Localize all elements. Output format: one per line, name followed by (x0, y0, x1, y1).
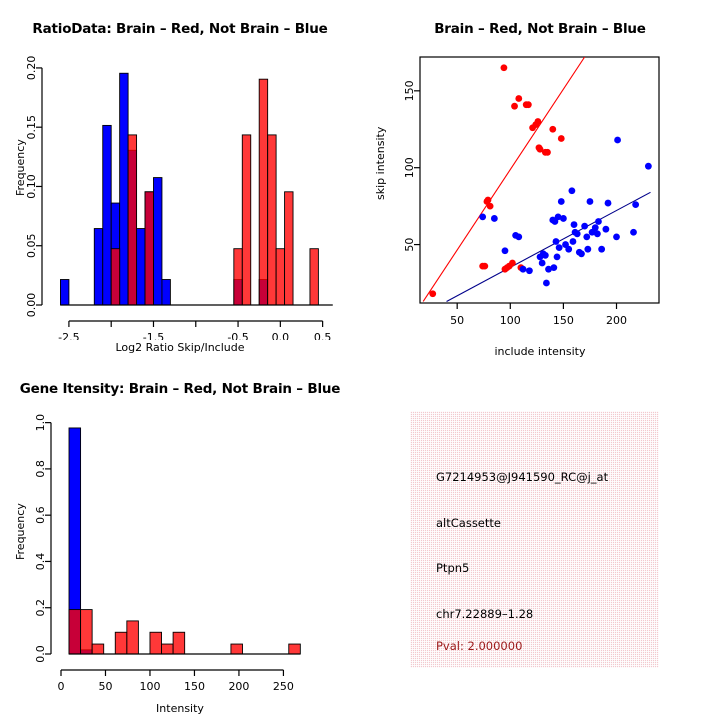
scatter-point (487, 203, 494, 210)
scatter-point (515, 233, 522, 240)
scatter-point (614, 137, 621, 144)
gene-hist-plot: 0.00.20.40.60.81.0050100150200250 (0, 360, 360, 700)
scatter-point (587, 198, 594, 205)
probe-info-panel: G7214953@J941590_RC@j_at altCassette Ptp… (410, 411, 659, 668)
info-event-type: altCassette (436, 516, 501, 530)
gene-y-tick-text: 0.2 (34, 599, 47, 617)
gene-hist-bar (69, 610, 81, 654)
gene-hist-bar (92, 644, 104, 654)
scatter-point (549, 126, 556, 133)
ratio-hist-bar (103, 125, 111, 305)
gene-x-tick-label: 250 (273, 680, 294, 693)
scatter-point (542, 252, 549, 259)
scatter-point (543, 280, 550, 287)
gene-y-tick-label: 0.6 (34, 506, 47, 524)
gene-y-tick-text: 0.6 (34, 506, 47, 524)
ratio-x-tick-label: -2.5 (58, 331, 79, 340)
scatter-point (605, 200, 612, 207)
gene-y-tick-label: 1.0 (34, 414, 47, 432)
gene-y-tick-text: 0.0 (34, 645, 47, 663)
scatter-point (525, 101, 532, 108)
info-probe-id: G7214953@J941590_RC@j_at (436, 470, 608, 484)
scatter-point (584, 246, 591, 253)
ratio-hist-bar (162, 280, 170, 305)
ratio-hist-bar (120, 73, 128, 305)
scatter-y-tick-label: 150 (403, 80, 416, 101)
scatter-point (558, 135, 565, 142)
scatter-x-tick-label: 100 (500, 314, 521, 327)
ratio-hist-bar (137, 229, 145, 305)
gene-hist-bar (173, 632, 185, 654)
gene-hist-bar (231, 644, 243, 654)
ratio-hist-bar (285, 192, 293, 305)
ratio-y-tick-text: 0.20 (25, 56, 38, 81)
scatter-plot: 5010015020050100150 (360, 0, 720, 345)
ratio-hist-bar (128, 135, 136, 305)
ratio-hist-bar (145, 192, 153, 305)
scatter-xlabel: include intensity (360, 345, 720, 358)
info-gene-symbol: Ptpn5 (436, 561, 469, 575)
ratio-hist-bar (234, 249, 242, 305)
scatter-fit-line (423, 57, 584, 301)
scatter-point (556, 244, 563, 251)
ratio-y-tick-text: 0.05 (25, 233, 38, 257)
gene-hist-bar (162, 644, 174, 654)
gene-x-tick-label: 200 (228, 680, 249, 693)
scatter-x-tick-label: 200 (606, 314, 627, 327)
scatter-point (491, 215, 498, 222)
scatter-point (558, 198, 565, 205)
scatter-point (568, 187, 575, 194)
ratio-x-tick-label: 0.0 (272, 331, 290, 340)
gene-y-tick-label: 0.0 (34, 645, 47, 663)
gene-hist-bar (127, 621, 139, 654)
panel-ratio-histogram: RatioData: Brain – Red, Not Brain – Blue… (0, 0, 360, 360)
ratio-hist-bar (153, 178, 161, 305)
scatter-point (565, 246, 572, 253)
ratio-y-tick-text: 0.00 (25, 293, 38, 318)
gene-hist-bar (150, 632, 162, 654)
scatter-point (613, 233, 620, 240)
gene-y-tick-label: 0.4 (34, 553, 47, 571)
scatter-point (511, 103, 518, 110)
scatter-point (630, 229, 637, 236)
scatter-y-tick-label: 50 (403, 238, 416, 252)
gene-hist-bar (289, 644, 301, 654)
scatter-point (583, 233, 590, 240)
gene-y-tick-text: 0.4 (34, 553, 47, 571)
scatter-point (509, 260, 516, 267)
scatter-point (544, 149, 551, 156)
scatter-point (479, 214, 486, 221)
scatter-point (553, 238, 560, 245)
ratio-y-tick-text: 0.10 (25, 174, 38, 199)
scatter-point (592, 224, 599, 231)
ratio-y-tick-label: 0.15 (25, 115, 38, 140)
ratio-y-tick-label: 0.00 (25, 293, 38, 318)
ratio-y-tick-label: 0.05 (25, 233, 38, 257)
scatter-point (560, 215, 567, 222)
scatter-y-tick-text: 100 (403, 157, 416, 178)
figure-canvas: RatioData: Brain – Red, Not Brain – Blue… (0, 0, 720, 720)
info-pval: Pval: 2.000000 (436, 639, 522, 653)
scatter-frame (420, 57, 659, 303)
ratio-x-tick-label: -0.5 (227, 331, 248, 340)
gene-y-tick-label: 0.2 (34, 599, 47, 617)
ratio-y-tick-text: 0.15 (25, 115, 38, 140)
scatter-point (501, 64, 508, 71)
scatter-point (515, 95, 522, 102)
gene-y-tick-label: 0.8 (34, 460, 47, 478)
gene-x-tick-label: 100 (139, 680, 160, 693)
gene-x-tick-label: 50 (98, 680, 112, 693)
scatter-point (645, 163, 652, 170)
scatter-content (423, 57, 652, 301)
gene-hist-bar (81, 610, 93, 654)
panel-gene-histogram: Gene Itensity: Brain – Red, Not Brain – … (0, 360, 360, 720)
scatter-point (502, 247, 509, 254)
ratio-hist-bar (310, 249, 318, 305)
info-locus: chr7.22889–1.28 (436, 607, 533, 621)
gene-x-tick-label: 150 (184, 680, 205, 693)
ratio-y-tick-label: 0.20 (25, 56, 38, 81)
scatter-point (578, 250, 585, 257)
gene-y-tick-text: 0.8 (34, 460, 47, 478)
gene-hist-xlabel: Intensity (0, 702, 360, 715)
scatter-point (595, 218, 602, 225)
scatter-point (571, 221, 578, 228)
ratio-x-tick-label: -1.5 (143, 331, 164, 340)
ratio-x-tick-label: 0.5 (314, 331, 332, 340)
ratio-hist-bar (111, 249, 119, 305)
scatter-point (632, 201, 639, 208)
ratio-y-tick-label: 0.10 (25, 174, 38, 199)
scatter-x-tick-label: 150 (553, 314, 574, 327)
ratio-hist-bar (60, 280, 68, 305)
ratio-hist-bar (242, 135, 250, 305)
gene-hist-bar (115, 632, 127, 654)
panel-scatter: Brain – Red, Not Brain – Blue skip inten… (360, 0, 720, 360)
ratio-hist-xlabel: Log2 Ratio Skip/Include (0, 341, 360, 354)
scatter-point (526, 267, 533, 274)
scatter-y-tick-text: 150 (403, 80, 416, 101)
scatter-point (574, 230, 581, 237)
scatter-point (429, 290, 436, 297)
ratio-hist-bar (259, 79, 267, 305)
gene-x-tick-label: 0 (58, 680, 65, 693)
scatter-point (594, 230, 601, 237)
scatter-y-tick-label: 100 (403, 157, 416, 178)
scatter-point (481, 263, 488, 270)
scatter-point (570, 238, 577, 245)
scatter-point (485, 197, 492, 204)
scatter-point (581, 223, 588, 230)
scatter-point (535, 118, 542, 125)
scatter-point (602, 226, 609, 233)
scatter-point (539, 260, 546, 267)
scatter-point (550, 264, 557, 271)
scatter-x-tick-label: 50 (450, 314, 464, 327)
ratio-hist-bar (94, 229, 102, 305)
scatter-y-tick-text: 50 (403, 238, 416, 252)
ratio-hist-plot: 0.000.050.100.150.20-2.5-1.5-0.50.00.5 (0, 0, 360, 340)
scatter-point (554, 253, 561, 260)
scatter-point (598, 246, 605, 253)
ratio-hist-bar (276, 249, 284, 305)
gene-y-tick-text: 1.0 (34, 414, 47, 432)
scatter-point (520, 266, 527, 273)
ratio-hist-bar (268, 135, 276, 305)
